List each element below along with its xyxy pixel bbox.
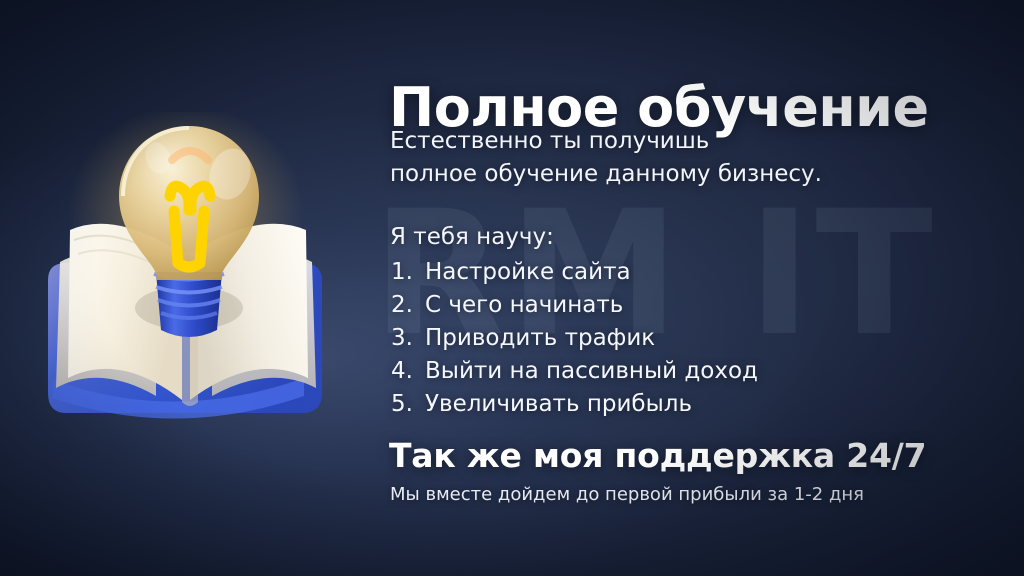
support-subtitle: Мы вместе дойдем до первой прибыли за 1-… [390,484,864,505]
lede-line-1: Естественно ты получишь [390,125,822,158]
skills-list: Настройке сайта С чего начинать Приводит… [389,256,758,420]
skills-list-intro: Я тебя научу: [390,224,554,250]
lightbulb-over-open-book-illustration [34,112,364,442]
lede-line-2: полное обучение данному бизнесу. [390,158,822,191]
list-item: Выйти на пассивный доход [423,355,758,388]
list-item: Увеличивать прибыль [423,388,758,421]
lede-paragraph: Естественно ты получишь полное обучение … [390,125,822,190]
text-column: Полное обучение Естественно ты получишь … [389,0,1009,576]
support-title: Так же моя поддержка 24/7 [389,436,926,475]
list-item: С чего начинать [423,289,758,322]
list-item: Настройке сайта [423,256,758,289]
promo-slide: RM IT [0,0,1024,576]
list-item: Приводить трафик [423,322,758,355]
